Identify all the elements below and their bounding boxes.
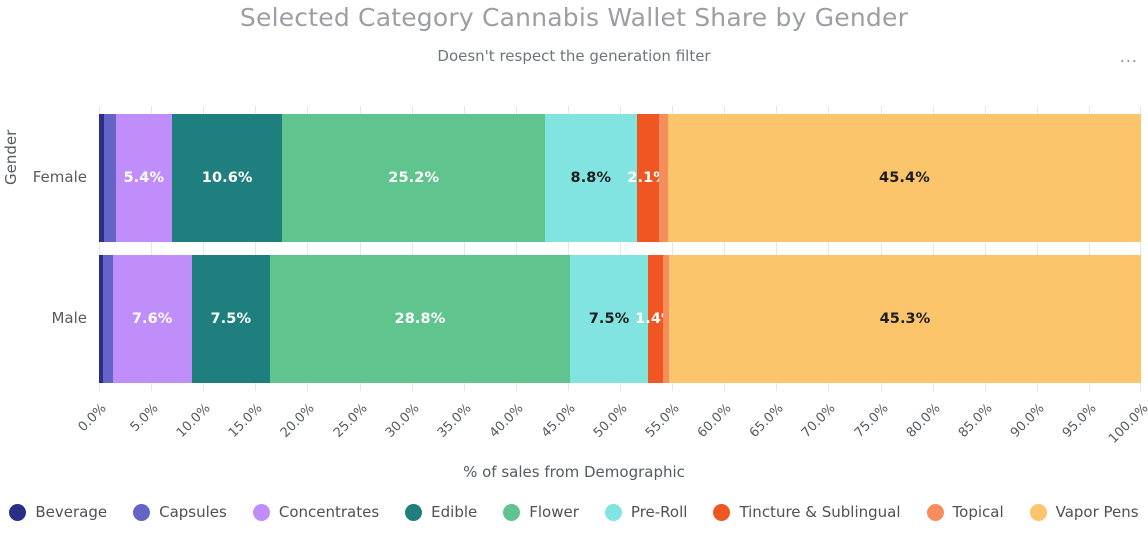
legend-label: Edible bbox=[431, 503, 477, 521]
legend-label: Tincture & Sublingual bbox=[739, 503, 900, 521]
bar-segment[interactable]: 7.5% bbox=[192, 255, 270, 383]
legend-swatch-icon bbox=[9, 504, 26, 521]
bar-segment[interactable]: 7.6% bbox=[113, 255, 192, 383]
bar-row: 7.6%7.5%28.8%7.5%1.4%45.3% bbox=[99, 255, 1141, 383]
chart-title: Selected Category Cannabis Wallet Share … bbox=[0, 0, 1148, 35]
legend-item-pre-roll[interactable]: Pre-Roll bbox=[605, 503, 688, 521]
more-options-icon[interactable]: ... bbox=[1116, 47, 1142, 67]
legend-swatch-icon bbox=[133, 504, 150, 521]
legend-item-concentrates[interactable]: Concentrates bbox=[253, 503, 379, 521]
bar-segment-label: 7.5% bbox=[589, 311, 630, 327]
legend-item-capsules[interactable]: Capsules bbox=[133, 503, 227, 521]
legend-label: Vapor Pens bbox=[1056, 503, 1139, 521]
bar-segment[interactable]: 2.1% bbox=[637, 114, 659, 242]
bar-segment[interactable]: 28.8% bbox=[270, 255, 570, 383]
legend-label: Pre-Roll bbox=[631, 503, 688, 521]
plot-area: 5.4%10.6%25.2%8.8%2.1%45.4%7.6%7.5%28.8%… bbox=[99, 106, 1141, 391]
legend-label: Topical bbox=[953, 503, 1004, 521]
bar-segment[interactable]: 8.8% bbox=[545, 114, 637, 242]
bar-segment-label: 25.2% bbox=[388, 170, 439, 186]
bar-segment[interactable]: 1.4% bbox=[648, 255, 663, 383]
bar-segment[interactable]: 10.6% bbox=[172, 114, 282, 242]
legend-swatch-icon bbox=[1030, 504, 1047, 521]
legend-swatch-icon bbox=[405, 504, 422, 521]
legend-item-beverage[interactable]: Beverage bbox=[9, 503, 107, 521]
legend-label: Beverage bbox=[35, 503, 107, 521]
bar-segment[interactable]: 5.4% bbox=[116, 114, 172, 242]
bar-segment-label: 45.3% bbox=[880, 311, 931, 327]
legend-swatch-icon bbox=[253, 504, 270, 521]
y-axis-tick-male: Male bbox=[0, 309, 87, 327]
legend-item-tincture-sublingual[interactable]: Tincture & Sublingual bbox=[713, 503, 900, 521]
legend-swatch-icon bbox=[605, 504, 622, 521]
bar-segment[interactable] bbox=[104, 114, 115, 242]
bar-segment[interactable] bbox=[103, 255, 112, 383]
legend-item-flower[interactable]: Flower bbox=[503, 503, 579, 521]
legend-swatch-icon bbox=[503, 504, 520, 521]
bar-segment-label: 28.8% bbox=[395, 311, 446, 327]
legend-label: Capsules bbox=[159, 503, 227, 521]
x-axis-title: % of sales from Demographic bbox=[0, 463, 1148, 481]
legend-swatch-icon bbox=[927, 504, 944, 521]
x-axis-tick-labels: 0.0%5.0%10.0%15.0%20.0%25.0%30.0%35.0%40… bbox=[99, 395, 1141, 455]
bar-row: 5.4%10.6%25.2%8.8%2.1%45.4% bbox=[99, 114, 1141, 242]
legend-item-topical[interactable]: Topical bbox=[927, 503, 1004, 521]
bar-segment[interactable]: 45.4% bbox=[668, 114, 1141, 242]
legend-swatch-icon bbox=[713, 504, 730, 521]
legend-label: Concentrates bbox=[279, 503, 379, 521]
chart-container: Selected Category Cannabis Wallet Share … bbox=[0, 0, 1148, 546]
bar-segment[interactable]: 45.3% bbox=[669, 255, 1141, 383]
bar-segment-label: 7.5% bbox=[210, 311, 251, 327]
bar-segment-label: 45.4% bbox=[879, 170, 930, 186]
legend-item-vapor-pens[interactable]: Vapor Pens bbox=[1030, 503, 1139, 521]
bar-segment-label: 10.6% bbox=[202, 170, 253, 186]
legend-item-edible[interactable]: Edible bbox=[405, 503, 477, 521]
legend: BeverageCapsulesConcentratesEdibleFlower… bbox=[0, 503, 1148, 521]
legend-label: Flower bbox=[529, 503, 579, 521]
y-axis-tick-female: Female bbox=[0, 168, 87, 186]
chart-subtitle: Doesn't respect the generation filter bbox=[0, 44, 1148, 68]
bar-segment[interactable] bbox=[659, 114, 668, 242]
bar-series-layer: 5.4%10.6%25.2%8.8%2.1%45.4%7.6%7.5%28.8%… bbox=[99, 106, 1141, 391]
bar-segment-label: 7.6% bbox=[132, 311, 173, 327]
bar-segment-label: 5.4% bbox=[123, 170, 164, 186]
bar-segment[interactable]: 25.2% bbox=[282, 114, 545, 242]
bar-segment-label: 8.8% bbox=[571, 170, 612, 186]
